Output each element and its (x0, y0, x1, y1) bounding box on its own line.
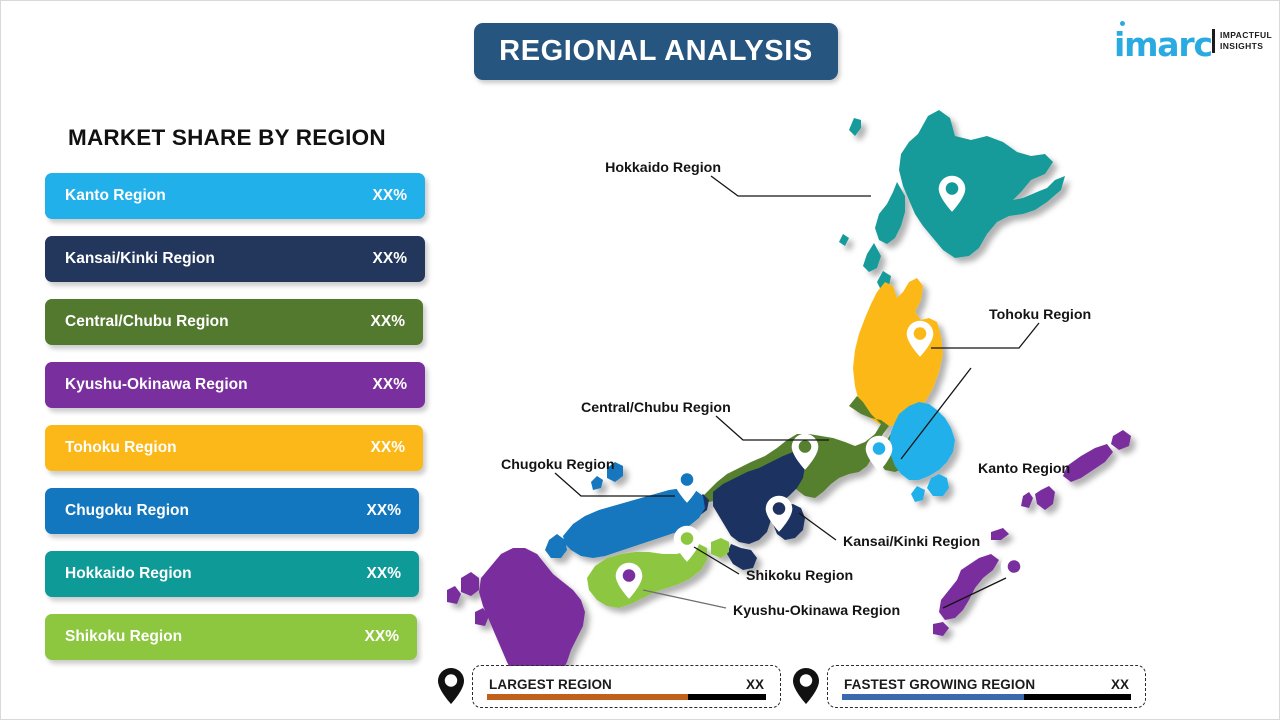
slide-canvas: REGIONAL ANALYSIS imarc IMPACTFUL INSIGH… (0, 0, 1280, 720)
map-region-tohoku[interactable] (853, 278, 943, 426)
legend-bar-label: Central/Chubu Region (65, 313, 371, 331)
map-label-central-chubu: Central/Chubu Region (581, 400, 731, 416)
legend-bar-label: Kyushu-Okinawa Region (65, 376, 373, 394)
largest-region-progress (487, 694, 766, 700)
legend-bar-value: XX% (373, 376, 407, 394)
legend-bar-value: XX% (373, 250, 407, 268)
fastest-region-label: FASTEST GROWING REGION (844, 677, 1035, 692)
japan-map: Hokkaido Region Tohoku Region Central/Ch… (431, 96, 1171, 666)
legend-bar-label: Kansai/Kinki Region (65, 250, 373, 268)
legend-bar-label: Hokkaido Region (65, 565, 367, 583)
imarc-logo: imarc IMPACTFUL INSIGHTS (1114, 19, 1264, 63)
legend-bar[interactable]: Hokkaido RegionXX% (45, 551, 419, 597)
map-label-tohoku: Tohoku Region (989, 307, 1091, 323)
page-title: REGIONAL ANALYSIS (499, 35, 813, 68)
legend-bar[interactable]: Shikoku RegionXX% (45, 614, 417, 660)
location-pin-icon (791, 666, 821, 706)
fastest-region-box: FASTEST GROWING REGION XX (827, 665, 1146, 708)
legend-bar-value: XX% (371, 313, 405, 331)
legend-bar[interactable]: Kansai/Kinki RegionXX% (45, 236, 425, 282)
location-pin-icon (436, 666, 466, 706)
map-label-hokkaido: Hokkaido Region (605, 160, 721, 176)
largest-region-label: LARGEST REGION (489, 677, 612, 692)
legend-bar[interactable]: Central/Chubu RegionXX% (45, 299, 423, 345)
leader-kyushu (643, 590, 726, 608)
map-label-kansai-kinki: Kansai/Kinki Region (843, 534, 980, 550)
market-share-heading: MARKET SHARE BY REGION (68, 125, 386, 151)
legend-bar[interactable]: Tohoku RegionXX% (45, 425, 423, 471)
pin-okinawa-icon (1001, 554, 1028, 590)
legend-bar-value: XX% (367, 565, 401, 583)
fastest-region-progress-fill (842, 694, 1024, 700)
legend-bar[interactable]: Kanto RegionXX% (45, 173, 425, 219)
logo-wordmark: imarc (1114, 25, 1212, 64)
leader-kansai (799, 513, 836, 540)
logo-divider (1212, 29, 1215, 53)
map-label-kanto: Kanto Region (978, 461, 1070, 477)
fastest-region-progress (842, 694, 1131, 700)
fastest-region-value: XX (1111, 677, 1129, 692)
fastest-region-callout: FASTEST GROWING REGION XX (791, 663, 1146, 709)
leader-hokkaido (711, 176, 871, 196)
map-label-shikoku: Shikoku Region (746, 568, 853, 584)
legend-bar-label: Chugoku Region (65, 502, 367, 520)
map-region-kyushu[interactable] (447, 548, 585, 666)
legend-bar[interactable]: Chugoku RegionXX% (45, 488, 419, 534)
logo-tagline: IMPACTFUL INSIGHTS (1220, 30, 1272, 52)
map-region-kanto[interactable] (889, 402, 955, 502)
legend-bar-label: Shikoku Region (65, 628, 365, 646)
legend-bar-value: XX% (371, 439, 405, 457)
logo-tagline-line2: INSIGHTS (1220, 41, 1263, 51)
leader-tohoku (931, 323, 1039, 348)
map-label-chugoku: Chugoku Region (501, 457, 615, 473)
legend-bar-value: XX% (365, 628, 399, 646)
largest-region-value: XX (746, 677, 764, 692)
largest-region-box: LARGEST REGION XX (472, 665, 781, 708)
map-label-kyushu-okinawa: Kyushu-Okinawa Region (733, 603, 900, 619)
legend-bar[interactable]: Kyushu-Okinawa RegionXX% (45, 362, 425, 408)
legend-bar-label: Kanto Region (65, 187, 373, 205)
page-title-banner: REGIONAL ANALYSIS (474, 23, 838, 80)
legend-bar-label: Tohoku Region (65, 439, 371, 457)
largest-region-callout: LARGEST REGION XX (436, 663, 781, 709)
logo-tagline-line1: IMPACTFUL (1220, 30, 1272, 40)
largest-region-progress-fill (487, 694, 688, 700)
legend-bar-value: XX% (373, 187, 407, 205)
legend-bar-value: XX% (367, 502, 401, 520)
region-legend-list: Kanto RegionXX%Kansai/Kinki RegionXX%Cen… (45, 173, 435, 677)
